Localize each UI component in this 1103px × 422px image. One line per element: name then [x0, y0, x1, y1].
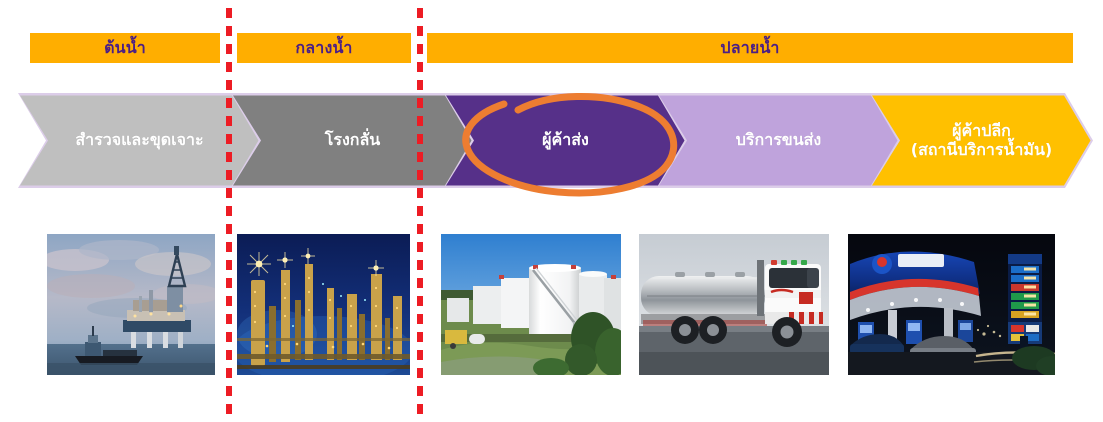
- storage-tanks-photo: [441, 234, 621, 375]
- chevron-label: โรงกลั่น: [321, 131, 384, 150]
- refinery-night-photo: [237, 234, 410, 375]
- chevron-wholesaler[interactable]: ผู้ค้าส่ง: [444, 93, 687, 188]
- stage-separator-1: [226, 8, 232, 420]
- chevron-label: ผู้ค้าส่ง: [538, 131, 593, 150]
- tanker-truck-photo: [639, 234, 829, 375]
- chevron-label: สำรวจและขุดเจาะ: [71, 131, 207, 150]
- stage-separator-2: [417, 8, 423, 420]
- chevron-transport-service[interactable]: บริการขนส่ง: [657, 93, 900, 188]
- chevron-label-line2: (สถานีบริการน้ำมัน): [911, 140, 1052, 159]
- process-chevron-strip: สำรวจและขุดเจาะ โรงกลั่น ผู้ค้าส่ง บริกา…: [18, 93, 1093, 188]
- offshore-rig-photo: [47, 234, 215, 375]
- stage-banner-midstream: กลางน้ำ: [237, 33, 411, 63]
- stage-banner-downstream: ปลายน้ำ: [427, 33, 1073, 63]
- oil-supply-chain-diagram: ต้นน้ำ กลางน้ำ ปลายน้ำ สำรวจและขุดเจาะ โ…: [0, 0, 1103, 422]
- stage-banner-label: ต้นน้ำ: [104, 40, 146, 56]
- stage-banner-label: กลางน้ำ: [295, 40, 352, 56]
- chevron-exploration-drilling[interactable]: สำรวจและขุดเจาะ: [18, 93, 261, 188]
- gas-station-photo: [848, 234, 1055, 375]
- stage-banner-label: ปลายน้ำ: [720, 40, 779, 56]
- chevron-label-line1: ผู้ค้าปลีก: [952, 121, 1011, 140]
- stage-banner-upstream: ต้นน้ำ: [30, 33, 220, 63]
- chevron-label: บริการขนส่ง: [732, 131, 825, 150]
- chevron-retailer[interactable]: ผู้ค้าปลีก (สถานีบริการน้ำมัน): [870, 93, 1093, 188]
- chevron-label: ผู้ค้าปลีก (สถานีบริการน้ำมัน): [907, 122, 1056, 160]
- chevron-refinery[interactable]: โรงกลั่น: [231, 93, 474, 188]
